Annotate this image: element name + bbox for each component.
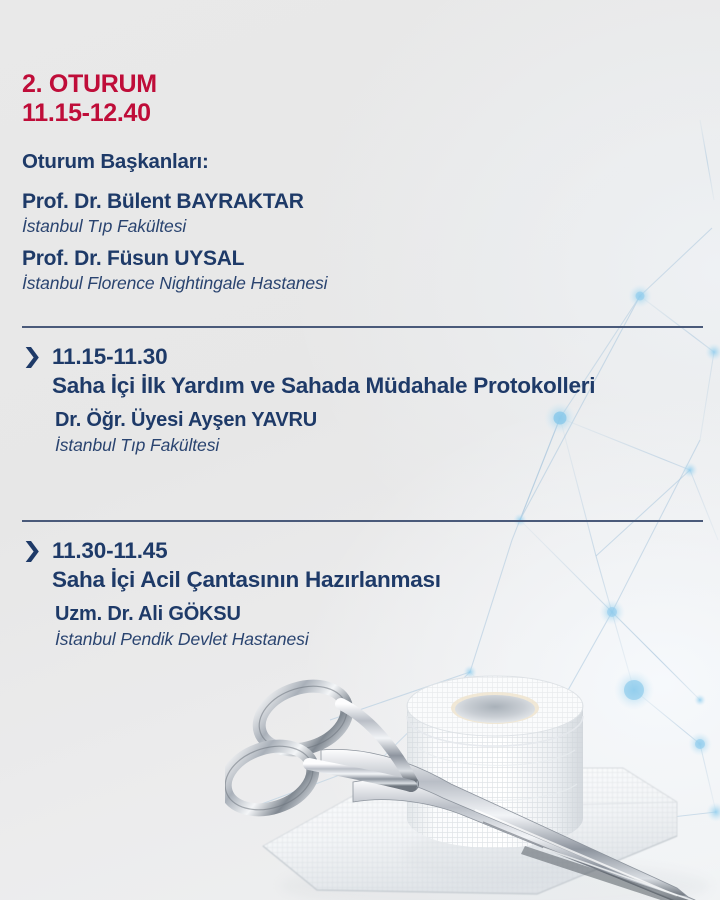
chairs-list: Prof. Dr. Bülent BAYRAKTAR İstanbul Tıp … <box>22 189 662 296</box>
chair-affiliation: İstanbul Tıp Fakültesi <box>22 215 662 238</box>
talk-speaker: Uzm. Dr. Ali GÖKSU <box>52 602 682 627</box>
session-poster: 2. OTURUM 11.15-12.40 Oturum Başkanları:… <box>0 0 720 900</box>
chair-name: Prof. Dr. Füsun UYSAL <box>22 246 662 272</box>
session-title: 2. OTURUM <box>22 70 157 99</box>
chair-person: Prof. Dr. Bülent BAYRAKTAR İstanbul Tıp … <box>22 189 662 239</box>
chevron-right-icon: ❯ <box>22 538 57 564</box>
chair-affiliation: İstanbul Florence Nightingale Hastanesi <box>22 272 662 295</box>
talk-time: 11.15-11.30 <box>52 344 682 370</box>
talk-title: Saha İçi İlk Yardım ve Sahada Müdahale P… <box>52 372 652 399</box>
chairs-label: Oturum Başkanları: <box>22 150 209 174</box>
session-time-range: 11.15-12.40 <box>22 99 157 128</box>
talk-affiliation: İstanbul Tıp Fakültesi <box>52 434 682 457</box>
talk-time: 11.30-11.45 <box>52 538 682 564</box>
divider-line <box>22 520 703 522</box>
talk-affiliation: İstanbul Pendik Devlet Hastanesi <box>52 628 682 651</box>
divider-line <box>22 326 703 328</box>
session-heading: 2. OTURUM 11.15-12.40 <box>22 70 157 127</box>
talk-item: ❯ 11.30-11.45 Saha İçi Acil Çantasının H… <box>22 538 682 651</box>
talk-title: Saha İçi Acil Çantasının Hazırlanması <box>52 566 652 593</box>
talk-item: ❯ 11.15-11.30 Saha İçi İlk Yardım ve Sah… <box>22 344 682 457</box>
talk-speaker: Dr. Öğr. Üyesi Ayşen YAVRU <box>52 408 682 433</box>
chair-person: Prof. Dr. Füsun UYSAL İstanbul Florence … <box>22 246 662 296</box>
chevron-right-icon: ❯ <box>22 344 57 370</box>
chair-name: Prof. Dr. Bülent BAYRAKTAR <box>22 189 662 215</box>
